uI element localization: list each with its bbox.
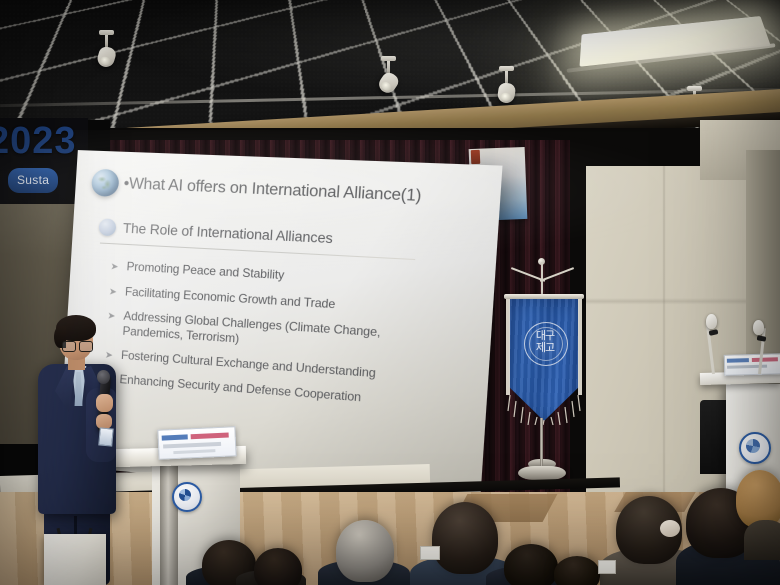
speaker-name-badge [98, 427, 114, 446]
arrow-bullet-icon: ➤ [110, 260, 119, 275]
banner-subtitle-pill: Susta [8, 168, 58, 193]
bullet-text: Promoting Peace and Stability [126, 259, 285, 284]
audience-head [554, 556, 600, 585]
microphone-head [706, 314, 717, 329]
banner-subtitle-text: Susta [17, 173, 49, 187]
microphone-head [753, 320, 764, 335]
audience-head [432, 502, 498, 574]
audience-head [254, 548, 302, 585]
slide-subtitle: The Role of International Alliances [123, 221, 334, 247]
pennant-crossbar [504, 294, 584, 299]
audience-head [336, 520, 394, 582]
speaker-hand-upper [96, 394, 113, 412]
eyeglasses-icon [62, 341, 92, 350]
speaker-hand-lower [96, 414, 112, 429]
blue-circle-bullet-icon [98, 218, 116, 236]
audience-name-tag [420, 546, 440, 560]
slide-title-row: •What AI offers on International Allianc… [91, 169, 483, 213]
track-spotlight [380, 56, 397, 73]
track-spotlight [498, 66, 515, 83]
left-podium-column [160, 466, 178, 585]
bullet-text: Facilitating Economic Growth and Trade [124, 284, 335, 313]
banner-year-text: 2023 [0, 120, 77, 163]
slide-title: •What AI offers on International Allianc… [123, 175, 422, 206]
pennant-stand-base [518, 466, 566, 480]
globe-icon [91, 169, 120, 197]
pennant-emblem-glyph: 대구제고 [531, 330, 559, 356]
white-tote-bag [44, 534, 106, 585]
side-banner-mark [471, 150, 481, 164]
arrow-bullet-icon: ➤ [106, 310, 116, 339]
right-podium-logo [739, 432, 771, 464]
audience-name-tag [598, 560, 616, 574]
track-spotlight [98, 30, 115, 47]
audience-head [736, 470, 780, 528]
handheld-microphone-head [97, 370, 110, 384]
hair-scrunchie [660, 520, 680, 537]
slide-bullet-list: ➤ Promoting Peace and Stability ➤ Facili… [103, 258, 477, 414]
arrow-bullet-icon: ➤ [108, 285, 117, 300]
right-podium-banner [724, 353, 780, 376]
arrow-bullet-icon: ➤ [105, 348, 114, 363]
audience-head [504, 544, 558, 585]
photo-scene: 2023 Susta •What AI offers on Internatio… [0, 0, 780, 585]
audience-shoulders [744, 520, 780, 560]
left-podium-logo [172, 482, 202, 512]
pennant-stand-pole [540, 418, 543, 470]
left-podium-sign [157, 426, 236, 460]
slide-subtitle-row: The Role of International Alliances [98, 218, 479, 254]
